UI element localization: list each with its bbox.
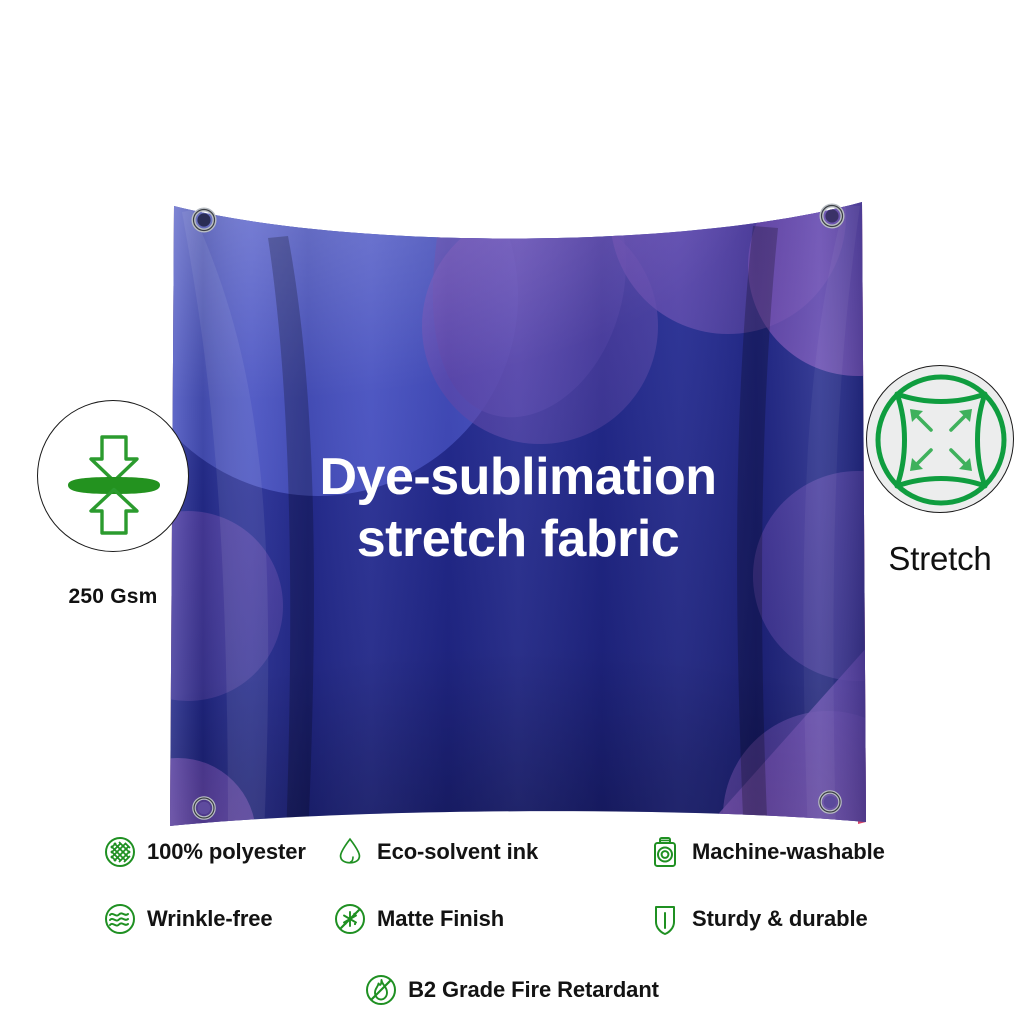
headline-line-2: stretch fabric [357,510,679,568]
feature-label: B2 Grade Fire Retardant [408,977,659,1003]
feature-label: Sturdy & durable [692,906,868,932]
feature-label: Machine-washable [692,839,885,865]
woven-mesh-icon [104,836,136,868]
gsm-label: 250 Gsm [0,585,226,609]
four-way-stretch-icon [867,366,1015,514]
feature-item: B2 Grade Fire Retardant [0,974,1024,1006]
feature-item: Wrinkle-free [0,903,320,935]
feature-item: Sturdy & durable [640,903,1024,935]
fabric-banner: Dye-sublimation stretch fabric [168,176,868,848]
stretch-label: Stretch [846,540,1024,578]
no-shine-icon [334,903,366,935]
washing-machine-icon [649,836,681,868]
water-droplet-icon [334,836,366,868]
feature-item: 100% polyester [0,836,320,868]
feature-label: Matte Finish [377,906,504,932]
no-flame-icon [365,974,397,1006]
feature-item: Machine-washable [640,836,1024,868]
gsm-badge [37,400,189,552]
feature-label: Wrinkle-free [147,906,273,932]
feature-list: 100% polyester Eco-solvent ink [0,836,1024,1024]
product-infographic: Dye-sublimation stretch fabric [0,0,1024,1024]
wave-lines-icon [104,903,136,935]
feature-label: 100% polyester [147,839,306,865]
feature-item: Eco-solvent ink [320,836,640,868]
feature-item: Matte Finish [320,903,640,935]
feature-label: Eco-solvent ink [377,839,538,865]
shield-icon [649,903,681,935]
stretch-badge [866,365,1014,513]
headline-line-1: Dye-sublimation [320,448,717,506]
compress-thickness-icon [38,401,190,553]
